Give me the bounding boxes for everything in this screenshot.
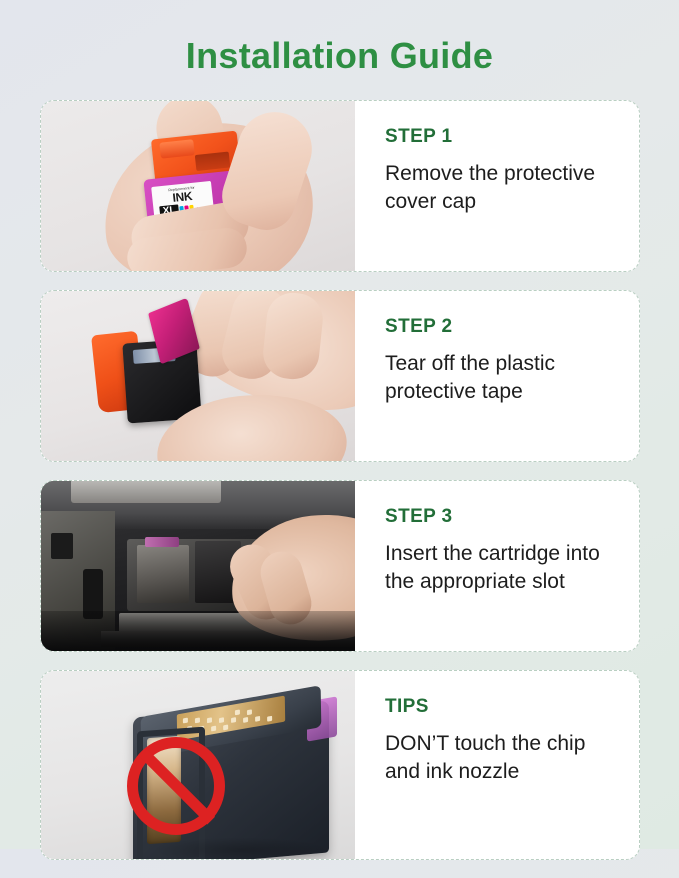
step-card-1: Replacement for INK XL Color INK CARTRID… xyxy=(40,100,640,272)
tips-card: TIPS DON’T touch the chip and ink nozzle xyxy=(40,670,640,860)
cartridge-slot-left xyxy=(137,545,189,603)
step-2-label: STEP 2 xyxy=(385,317,621,336)
cap-notch xyxy=(159,139,194,158)
step-1-text: STEP 1 Remove the protective cover cap xyxy=(355,101,639,271)
steps-list: Replacement for INK XL Color INK CARTRID… xyxy=(40,100,640,878)
step-1-label: STEP 1 xyxy=(385,127,621,146)
tips-photo xyxy=(41,671,355,859)
prohibition-sign-icon xyxy=(127,737,225,835)
page-title: Installation Guide xyxy=(0,0,679,76)
step-3-label: STEP 3 xyxy=(385,507,621,526)
step-1-photo: Replacement for INK XL Color INK CARTRID… xyxy=(41,101,355,271)
step-card-3: STEP 3 Insert the cartridge into the app… xyxy=(40,480,640,652)
tips-body: DON’T touch the chip and ink nozzle xyxy=(385,730,621,785)
installation-guide-page: Installation Guide Replacement for INK X… xyxy=(0,0,679,849)
photo-shadow-overlay xyxy=(41,611,355,651)
step-card-2: STEP 2 Tear off the plastic protective t… xyxy=(40,290,640,462)
step-2-text: STEP 2 Tear off the plastic protective t… xyxy=(355,291,639,461)
cap-window xyxy=(195,152,230,171)
step-2-photo xyxy=(41,291,355,461)
step-3-photo xyxy=(41,481,355,651)
printer-lid-highlight xyxy=(71,481,221,503)
tips-label: TIPS xyxy=(385,697,621,716)
tips-text: TIPS DON’T touch the chip and ink nozzle xyxy=(355,671,639,859)
step-1-body: Remove the protective cover cap xyxy=(385,160,621,215)
step-3-text: STEP 3 Insert the cartridge into the app… xyxy=(355,481,639,651)
cartridge-shadow xyxy=(151,837,331,859)
step-2-body: Tear off the plastic protective tape xyxy=(385,350,621,405)
step-3-body: Insert the cartridge into the appropriat… xyxy=(385,540,621,595)
